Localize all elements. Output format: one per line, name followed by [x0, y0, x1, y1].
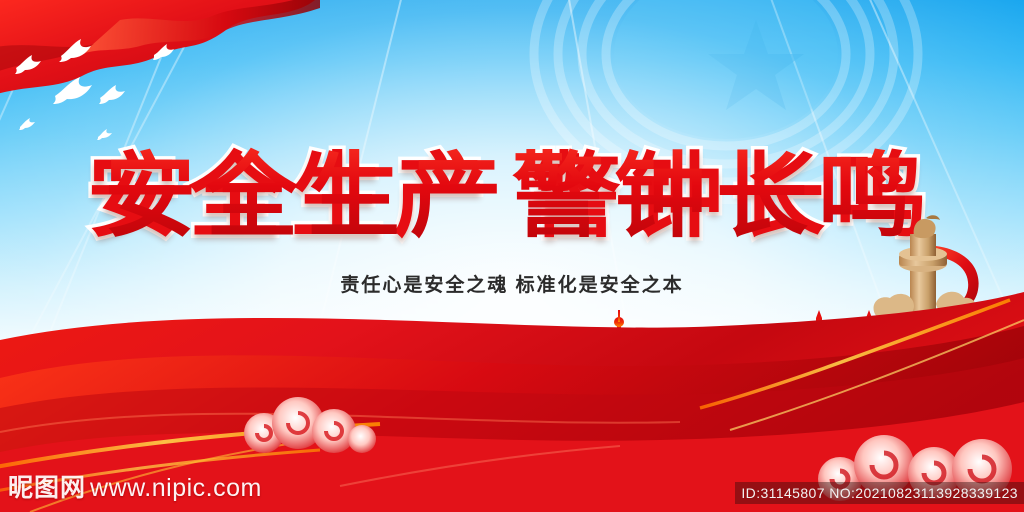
watermark: 昵图网 www.nipic.com [8, 468, 262, 504]
city-skyline-silhouette [0, 310, 1024, 420]
auspicious-clouds [236, 397, 376, 460]
watermark-site-name: 昵图网 [8, 468, 86, 504]
peace-dove-icon [58, 36, 98, 69]
page-title-outline: 安全生产警钟长鸣 [0, 122, 1024, 255]
poster-canvas: 安全生产警钟长鸣 安全生产警钟长鸣 责任心是安全之魂 标准化是安全之本 [0, 0, 1024, 512]
peace-dove-icon [152, 42, 180, 67]
five-point-star-icon [706, 18, 806, 113]
peace-dove-icon [98, 82, 132, 111]
watermark-url: www.nipic.com [90, 474, 262, 503]
page-subtitle: 责任心是安全之魂 标准化是安全之本 [0, 270, 1024, 297]
peace-dove-icon [14, 52, 48, 81]
peace-dove-icon [52, 74, 98, 111]
image-id-label: ID:31145807 NO:20210823113928339123 [735, 482, 1024, 504]
